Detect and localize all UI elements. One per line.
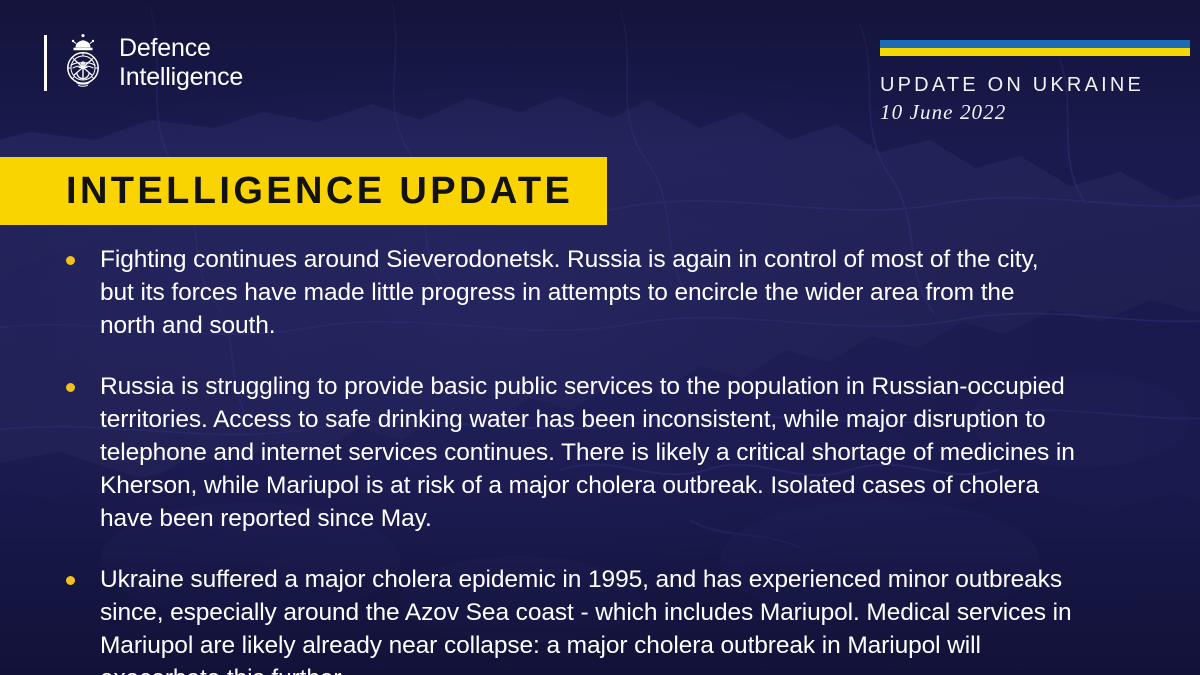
flag-stripe-blue [880, 40, 1190, 48]
brand-name: Defence Intelligence [119, 34, 243, 92]
bullet-dot-icon [66, 256, 75, 265]
intelligence-update-slide: Defence Intelligence UPDATE ON UKRAINE 1… [0, 0, 1200, 675]
brand-lockup: Defence Intelligence [44, 34, 243, 92]
brand-line-1: Defence [119, 34, 243, 63]
update-date: 10 June 2022 [880, 98, 1192, 126]
list-item: Ukraine suffered a major cholera epidemi… [0, 563, 1160, 675]
defence-intelligence-crest-icon [60, 34, 106, 92]
update-on-ukraine-block: UPDATE ON UKRAINE 10 June 2022 [880, 40, 1192, 126]
bullet-text: Russia is struggling to provide basic pu… [100, 370, 1075, 535]
brand-divider-rule [44, 35, 47, 91]
list-item: Fighting continues around Sieverodonetsk… [0, 243, 1160, 342]
ukraine-flag-bar-icon [880, 40, 1190, 56]
intelligence-update-banner: INTELLIGENCE UPDATE [0, 157, 607, 225]
brand-line-2: Intelligence [119, 63, 243, 92]
bullet-dot-icon [66, 576, 75, 585]
bullet-text: Ukraine suffered a major cholera epidemi… [100, 563, 1075, 675]
bullet-text: Fighting continues around Sieverodonetsk… [100, 243, 1075, 342]
update-title: UPDATE ON UKRAINE [880, 72, 1192, 98]
list-item: Russia is struggling to provide basic pu… [0, 370, 1160, 535]
bullet-list: Fighting continues around Sieverodonetsk… [0, 243, 1160, 675]
banner-label: INTELLIGENCE UPDATE [0, 170, 573, 213]
flag-stripe-yellow [880, 48, 1190, 56]
bullet-dot-icon [66, 383, 75, 392]
